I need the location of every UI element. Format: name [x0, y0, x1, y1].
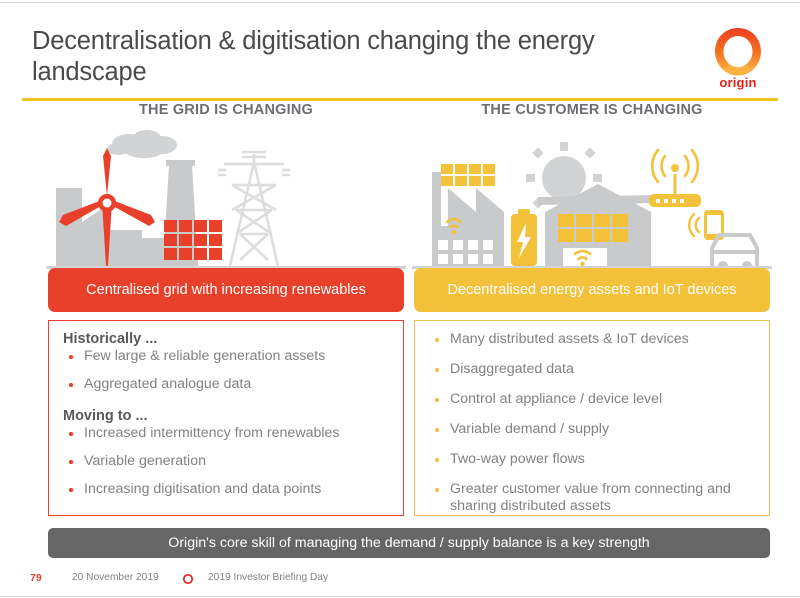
slide-bottom-border [0, 596, 800, 597]
list-item: Disaggregated data [429, 361, 755, 378]
list-item: Control at appliance / device level [429, 391, 755, 408]
list-item: Many distributed assets & IoT devices [429, 331, 755, 348]
content-box-customer: Many distributed assets & IoT devices Di… [414, 320, 770, 516]
column-heading-customer: THE CUSTOMER IS CHANGING [412, 102, 772, 118]
list-item: Aggregated analogue data [63, 376, 389, 393]
origin-mark-icon [182, 572, 194, 584]
content-box-grid: Historically ... Few large & reliable ge… [48, 320, 404, 516]
grid-illustration [46, 130, 406, 270]
list-item: Variable generation [63, 453, 389, 470]
list-item: Variable demand / supply [429, 421, 755, 438]
column-heading-grid: THE GRID IS CHANGING [46, 102, 406, 118]
slide-footer: 79 20 November 2019 2019 Investor Briefi… [0, 570, 800, 592]
bullet-list-customer: Many distributed assets & IoT devices Di… [429, 331, 755, 515]
list-item: Few large & reliable generation assets [63, 348, 389, 365]
list-item: Two-way power flows [429, 451, 755, 468]
footer-date: 20 November 2019 [72, 572, 159, 583]
group-title-moving-to: Moving to ... [63, 408, 389, 424]
page-number: 79 [30, 572, 42, 584]
group-title-historically: Historically ... [63, 331, 389, 347]
footer-event: 2019 Investor Briefing Day [208, 572, 328, 583]
page-title: Decentralisation & digitisation changing… [32, 26, 672, 88]
banner-grid: Centralised grid with increasing renewab… [48, 268, 404, 312]
slide: Decentralisation & digitisation changing… [0, 0, 800, 598]
svg-text:origin: origin [719, 75, 756, 90]
bullet-list-moving-to: Increased intermittency from renewables … [63, 425, 389, 498]
bullet-list-historically: Few large & reliable generation assets A… [63, 348, 389, 393]
key-message-strip: Origin's core skill of managing the dema… [48, 528, 770, 558]
customer-illustration [412, 130, 772, 270]
list-item: Increasing digitisation and data points [63, 481, 389, 498]
list-item: Greater customer value from connecting a… [429, 481, 755, 515]
header-divider [22, 98, 778, 101]
origin-logo: origin [702, 26, 774, 90]
slide-top-border [0, 2, 800, 3]
slide-header: Decentralisation & digitisation changing… [0, 10, 800, 82]
list-item: Increased intermittency from renewables [63, 425, 389, 442]
banner-customer: Decentralised energy assets and IoT devi… [414, 268, 770, 312]
